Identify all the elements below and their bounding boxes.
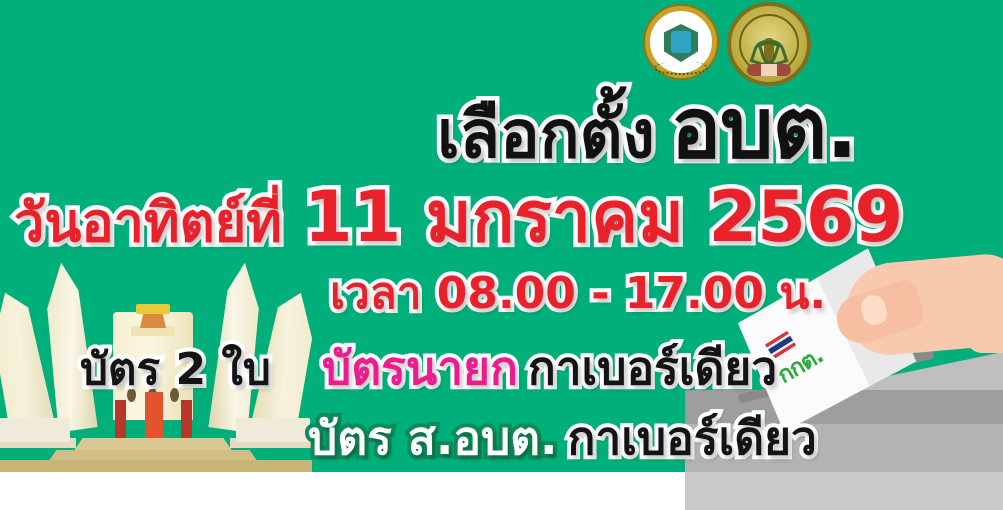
election-poster: กกต. เลือกตั้งอบต. วันอาทิตย์ที่11 มกราค… — [0, 0, 1003, 510]
ballot-row-council: บัตร ส.อบต.กาเบอร์เดียว — [308, 415, 817, 461]
emblem-shield-inner — [671, 31, 691, 53]
monument-pillar-center — [145, 392, 163, 444]
monument-step-3 — [0, 460, 312, 472]
headline-lead: เลือกตั้ง — [437, 96, 655, 173]
emblem-text-ring — [654, 61, 708, 75]
election-time-line: เวลา 08.00 - 17.00 น. — [330, 272, 826, 316]
local-administration-emblem-icon — [727, 2, 811, 86]
monument-wing-far-left — [0, 288, 55, 435]
emblem2-inner-ring — [739, 14, 799, 74]
monument-cap-mid — [140, 312, 166, 328]
monument-pillar-left — [115, 400, 126, 444]
ballot-row-mayor-name: บัตรนายก — [322, 341, 518, 395]
ballot-count-label: บัตร 2 ใบ — [80, 348, 271, 392]
ballot-row-mayor-instruction: กาเบอร์เดียว — [528, 341, 777, 395]
ballot-row-council-name: บัตร ส.อบต. — [308, 411, 558, 465]
ballot-row-council-instruction: กาเบอร์เดียว — [568, 411, 817, 465]
monument-cap-top — [136, 304, 170, 314]
date-prefix: วันอาทิตย์ที่ — [14, 191, 282, 254]
monument-plinth-right — [236, 418, 310, 442]
election-date-line: วันอาทิตย์ที่11 มกราคม 2569 — [14, 182, 903, 252]
ballot-box-base-front — [685, 472, 1003, 510]
monument-pillar-right — [181, 400, 192, 444]
date-value: 11 มกราคม 2569 — [304, 176, 903, 258]
monument-step-1 — [73, 438, 233, 452]
emblem2-handshake — [747, 64, 791, 76]
monument-plinth-left — [0, 418, 70, 442]
page-title: เลือกตั้งอบต. — [437, 86, 857, 170]
hand-illustration — [826, 255, 1003, 375]
ballot-row-mayor: บัตรนายกกาเบอร์เดียว — [322, 345, 777, 391]
headline-subject: อบต. — [671, 79, 857, 177]
election-commission-emblem-icon — [645, 6, 717, 78]
